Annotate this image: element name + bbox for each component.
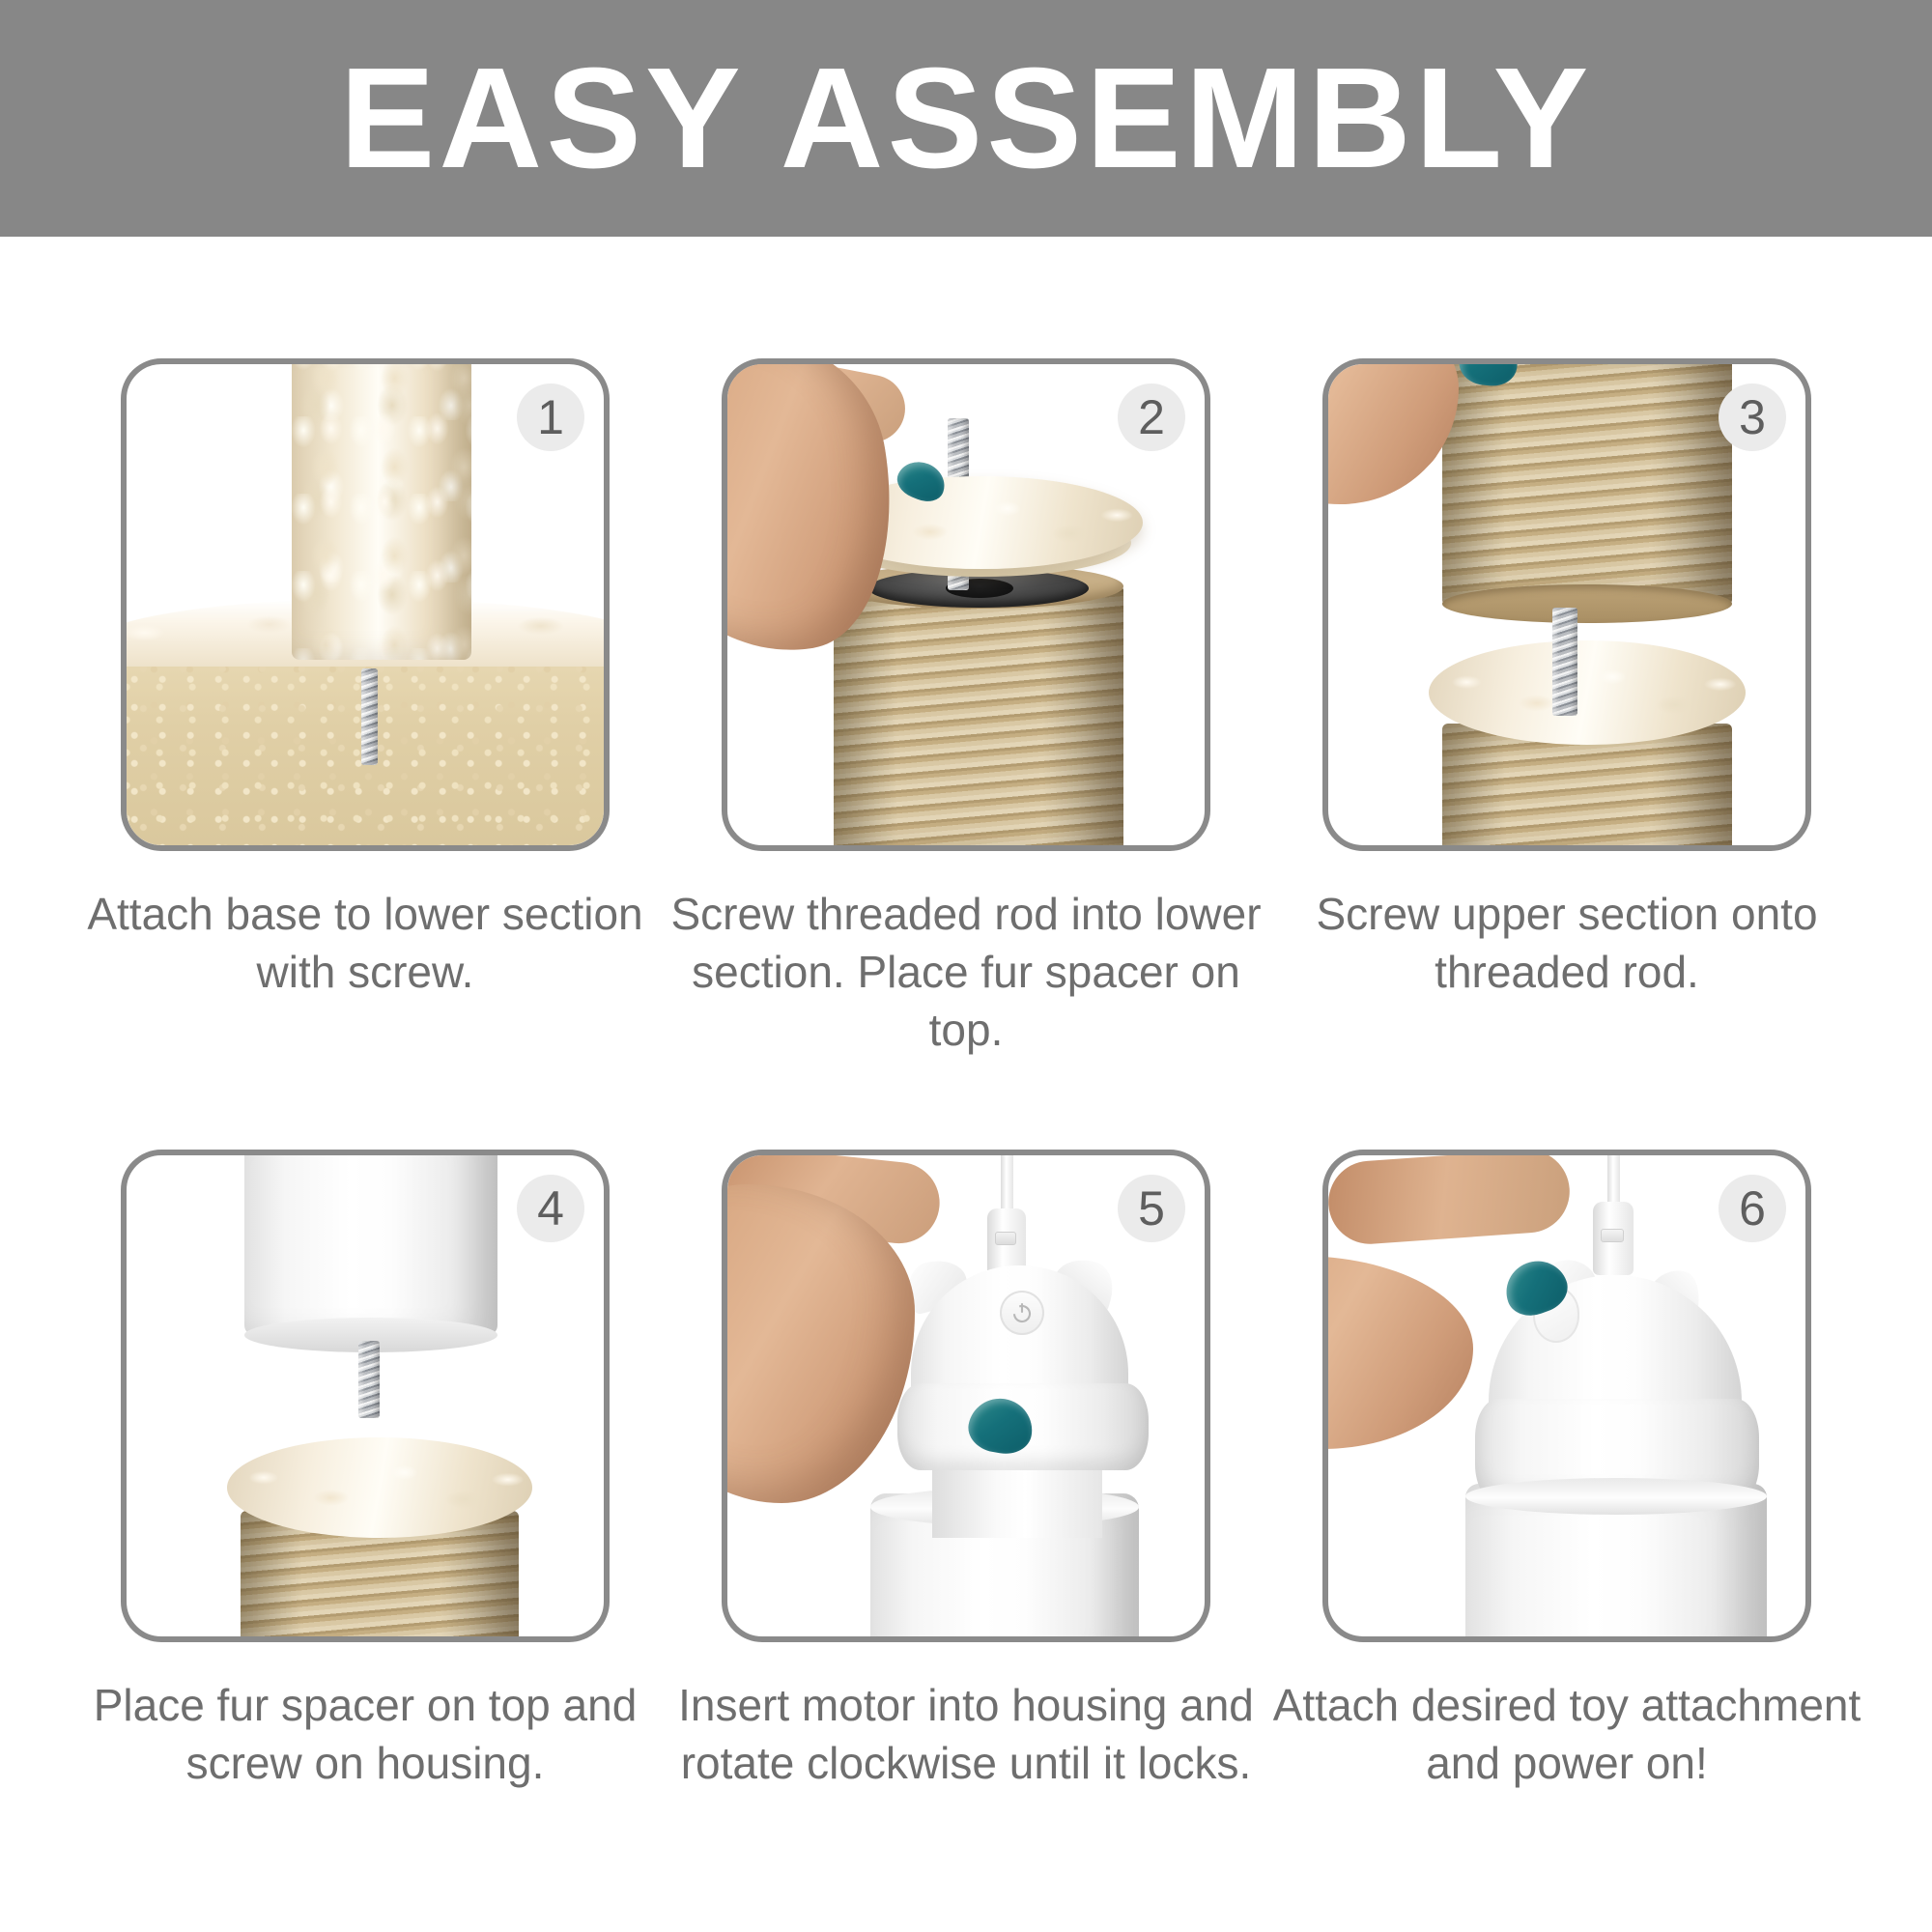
step-number-badge-2: 2 — [1118, 384, 1185, 451]
index-finger-shape — [1328, 1155, 1573, 1247]
step-image-panel-6: 6 — [1322, 1150, 1811, 1642]
step-caption-4: Place fur spacer on top and screw on hou… — [61, 1677, 669, 1793]
step-image-panel-1: 1 — [121, 358, 610, 851]
upper-section-bottom-rim-shape — [1442, 584, 1732, 623]
step-number-badge-6: 6 — [1719, 1175, 1786, 1242]
assembly-step-2: 2 Screw threaded rod into lower section.… — [662, 358, 1270, 1059]
hand-shape — [1328, 1256, 1473, 1449]
screw-shape — [361, 668, 378, 765]
step-caption-5: Insert motor into housing and rotate clo… — [662, 1677, 1270, 1793]
fur-spacer-shape — [227, 1437, 532, 1538]
step-caption-6: Attach desired toy attachment and power … — [1263, 1677, 1871, 1793]
assembly-step-5: 5 Insert motor into housing and rotate c… — [662, 1150, 1270, 1793]
upper-sisal-section-shape — [1442, 364, 1732, 606]
housing-body-rim-shape — [1465, 1478, 1767, 1515]
step-image-panel-4: 4 — [121, 1150, 610, 1642]
step-image-panel-3: 3 — [1322, 358, 1811, 851]
connector-slot-shape — [1601, 1229, 1624, 1242]
assembly-step-3: 3 Screw upper section onto threaded rod. — [1263, 358, 1871, 1002]
sisal-rope-post-shape — [834, 584, 1123, 845]
assembly-step-1: 1 Attach base to lower section with scre… — [61, 358, 669, 1002]
motor-shaft-shape — [932, 1461, 1102, 1538]
step-caption-1: Attach base to lower section with screw. — [61, 886, 669, 1002]
assembly-steps-grid: 1 Attach base to lower section with scre… — [0, 237, 1932, 1932]
fur-spacer-shape — [1429, 640, 1746, 745]
step-number-badge-4: 4 — [517, 1175, 584, 1242]
step-caption-3: Screw upper section onto threaded rod. — [1263, 886, 1871, 1002]
step-number-badge-3: 3 — [1719, 384, 1786, 451]
white-housing-shape — [244, 1155, 497, 1335]
header-banner: EASY ASSEMBLY — [0, 0, 1932, 237]
threaded-rod-shape — [1552, 608, 1577, 716]
power-button-icon — [1000, 1291, 1044, 1335]
hand-shape — [1328, 364, 1459, 504]
threaded-rod-shape — [358, 1341, 380, 1418]
assembly-step-4: 4 Place fur spacer on top and screw on h… — [61, 1150, 669, 1793]
step-image-panel-2: 2 — [722, 358, 1210, 851]
page-title: EASY ASSEMBLY — [340, 47, 1593, 190]
connector-slot-shape — [995, 1232, 1016, 1245]
step-number-badge-5: 5 — [1118, 1175, 1185, 1242]
step-image-panel-5: 5 — [722, 1150, 1210, 1642]
assembly-step-6: 6 Attach desired toy attachment and powe… — [1263, 1150, 1871, 1793]
step-number-badge-1: 1 — [517, 384, 584, 451]
fur-post-shape — [292, 364, 471, 660]
step-caption-2: Screw threaded rod into lower section. P… — [662, 886, 1270, 1059]
